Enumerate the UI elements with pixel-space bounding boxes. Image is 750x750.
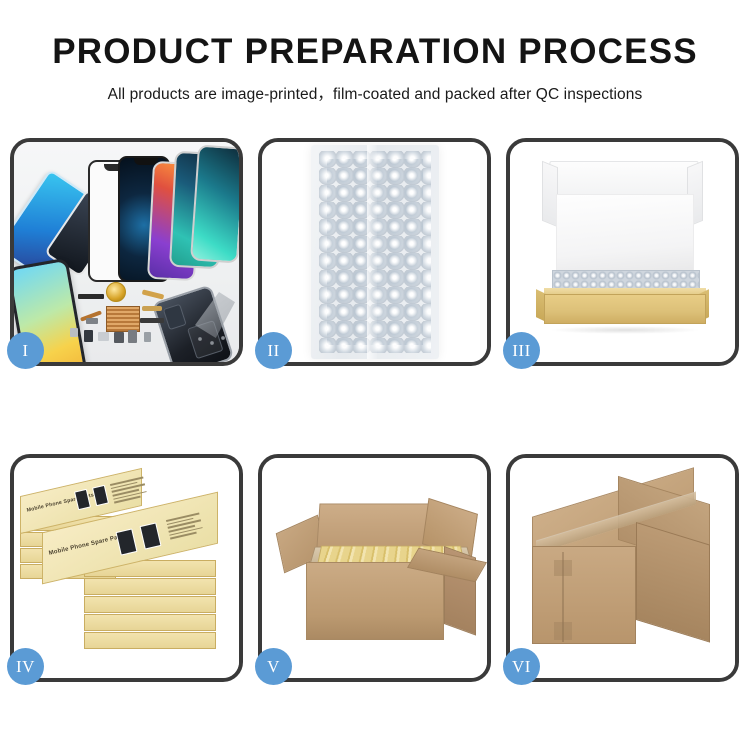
open-carton-image [262, 458, 487, 678]
carton-tab-bottom-icon [554, 622, 572, 640]
connector-strip-icon [78, 294, 104, 299]
bubble-wrap-sheet [311, 145, 439, 359]
step-panel-6: VI [506, 454, 739, 682]
box-front-panel-icon [544, 294, 706, 324]
bubble-wrap-image [262, 142, 487, 362]
small-part-1-icon [84, 330, 93, 342]
wrap-fold-highlight [367, 145, 377, 359]
box-shadow [550, 326, 700, 334]
step-panel-1: I [10, 138, 243, 366]
small-part-7-icon [70, 328, 78, 337]
screws-icon [195, 334, 229, 350]
flex-cable-4-icon [140, 318, 164, 323]
foam-sheet-icon [556, 194, 694, 272]
small-part-3-icon [114, 332, 124, 343]
step-badge-3: III [503, 332, 540, 369]
stacked-box-6 [84, 578, 216, 595]
stacked-box-7 [84, 596, 216, 613]
carton-tab-top-icon [554, 560, 572, 576]
step-panel-4: Mobile Phone Spare Parts Mobile Phone Sp… [10, 454, 243, 682]
flex-cable-2-icon [142, 289, 165, 299]
page-title: PRODUCT PREPARATION PROCESS [0, 34, 750, 71]
small-part-6-icon [86, 318, 98, 324]
steps-grid: I II [10, 138, 740, 686]
page-subtitle: All products are image-printed，film-coat… [0, 82, 750, 104]
small-part-4-icon [128, 330, 137, 343]
step-panel-2: II [258, 138, 491, 366]
flex-cable-3-icon [142, 306, 162, 311]
gold-coil-part-icon [106, 282, 126, 302]
stacked-box-8 [84, 614, 216, 631]
step-badge-1: I [7, 332, 44, 369]
step-badge-5: V [255, 648, 292, 685]
green-gradient-phone-icon [190, 144, 239, 263]
small-part-2-icon [98, 332, 109, 341]
stacked-boxes-image: Mobile Phone Spare Parts Mobile Phone Sp… [14, 458, 239, 678]
product-preparation-infographic: PRODUCT PREPARATION PROCESS All products… [0, 0, 750, 750]
step-panel-3: III [506, 138, 739, 366]
step-badge-4: IV [7, 648, 44, 685]
sealed-carton-front-icon [532, 546, 636, 644]
step-panel-5: V [258, 454, 491, 682]
step-badge-6: VI [503, 648, 540, 685]
stacked-box-9 [84, 632, 216, 649]
carton-back-flap-icon [316, 503, 435, 547]
header: PRODUCT PREPARATION PROCESS All products… [0, 0, 750, 104]
inner-box-image [510, 142, 735, 362]
small-part-5-icon [144, 332, 151, 342]
step-badge-2: II [255, 332, 292, 369]
chip-grid-icon [106, 306, 140, 332]
carton-front-panel-icon [306, 562, 444, 640]
sealed-carton-image [510, 458, 735, 678]
phone-parts-image [14, 142, 239, 362]
